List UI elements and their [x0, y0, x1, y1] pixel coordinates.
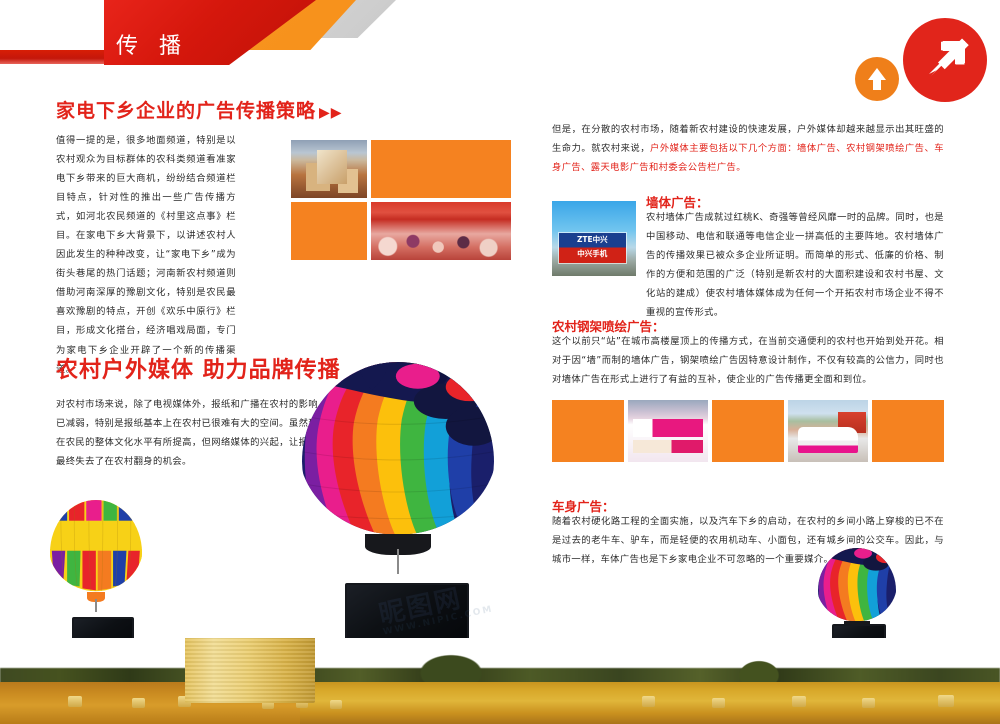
subsection-body-steelframe-ads: 这个以前只“站”在城市高楼屋顶上的传播方式，在当前交通便利的农村也开始到处开花。…	[552, 332, 944, 389]
yellow-striped-hot-air-balloon	[50, 500, 142, 612]
hay-bale	[330, 700, 342, 709]
brochure-page: 传 播 家电下乡企业的广告传播策略▶▶ 值得一提的是，很多地面频道，特别是以农村…	[0, 0, 1000, 724]
header-left-red-bar	[0, 50, 112, 64]
left-paragraph-2-text: 对农村市场来说，除了电视媒体外，报纸和广播在农村的影响已减弱，特别是报纸基本上在…	[56, 399, 318, 467]
zte-billboard-bottom-text: 中兴手机	[560, 248, 624, 259]
hay-bale	[642, 696, 655, 707]
hay-bale	[68, 696, 82, 707]
wheat-field-with-hay-bales	[0, 638, 1000, 724]
orange-block	[371, 140, 511, 198]
arrow-up-icon	[855, 57, 899, 101]
subsection-body-wall-ads: 农村墙体广告成就过红桃K、奇强等曾经风靡一时的品牌。同时，也是中国移动、电信和联…	[646, 208, 944, 322]
village-market-crowd-photo	[371, 202, 511, 260]
furniture-delivery-photo	[291, 140, 367, 198]
hay-bale	[792, 696, 806, 707]
page-header-banner: 传 播	[0, 0, 1000, 72]
tree	[415, 652, 487, 686]
tv-screen	[345, 583, 469, 645]
orange-block	[552, 400, 624, 462]
orange-block	[291, 202, 367, 260]
hay-bale	[132, 698, 145, 708]
rainbow-hot-air-balloon	[302, 362, 494, 574]
arrow-northeast-icon	[903, 18, 987, 102]
double-chevron-right-icon: ▶▶	[319, 105, 343, 121]
hay-bale	[712, 698, 725, 708]
balloon-ropes	[397, 549, 400, 574]
zte-wall-billboard-photo: ZTE中兴 中兴手机	[552, 201, 636, 276]
zte-billboard-top-text: ZTE中兴	[560, 234, 624, 245]
advertising-van-photo	[788, 400, 868, 462]
left-photo-grid	[291, 140, 511, 260]
right-photo-strip	[552, 400, 944, 462]
left-paragraph-text: 值得一提的是，很多地面频道，特别是以农村观众为目标群体的农科类频道看准家电下乡带…	[56, 135, 236, 375]
left-section-heading: 家电下乡企业的广告传播策略▶▶	[56, 96, 343, 123]
hay-bale-foreground	[185, 638, 315, 703]
hay-bale	[862, 698, 875, 708]
balloon-envelope	[50, 500, 142, 594]
balloon-envelope	[302, 362, 494, 540]
left-section-heading-2: 农村户外媒体 助力品牌传播	[56, 352, 341, 384]
orange-block	[872, 400, 944, 462]
orange-block	[712, 400, 784, 462]
balloon-ropes	[95, 599, 96, 612]
left-paragraph-part1: 值得一提的是，很多地面频道，特别是以农村观众为目标群体的农科类频道看准家电下乡带…	[56, 131, 236, 379]
left-section-heading-text: 家电下乡企业的广告传播策略	[56, 100, 316, 122]
roadside-billboards-photo	[628, 400, 708, 462]
balloon-envelope	[818, 548, 896, 624]
hay-bale	[938, 695, 954, 707]
right-intro-paragraph: 但是，在分散的农村市场，随着新农村建设的快速发展，户外媒体却越来越显示出其旺盛的…	[552, 120, 944, 177]
header-section-tab-label: 传 播	[116, 28, 188, 60]
left-paragraph-2: 对农村市场来说，除了电视媒体外，报纸和广播在农村的影响已减弱，特别是报纸基本上在…	[56, 395, 318, 471]
